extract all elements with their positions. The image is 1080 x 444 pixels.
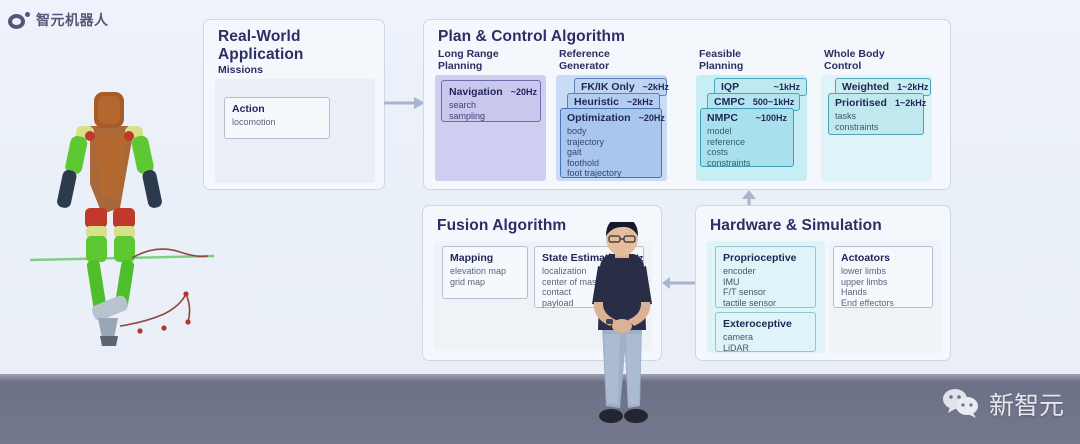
architecture-diagram: Real-World Application Missions Action l… [0,0,1080,374]
panel-hardware-simulation: Hardware & Simulation Proprioceptive enc… [695,205,951,361]
panel-plan-control-algorithm: Plan & Control Algorithm Long Range Plan… [423,19,951,190]
wechat-icon [941,388,981,420]
card-navigation-body: search sampling [449,100,533,121]
card-cmpc-title: CMPC [714,96,745,108]
card-weighted-title: Weighted [842,81,889,93]
hardware-title: Hardware & Simulation [710,217,882,235]
card-iqp-hz: ~1kHz [774,82,800,92]
fusion-title: Fusion Algorithm [437,217,566,235]
card-fk-ik-only-title: FK/IK Only [581,81,635,93]
card-mapping-title: Mapping [450,252,493,264]
card-optimization[interactable]: Optimization ~20Hz body trajectory gait … [560,108,662,178]
plan-control-title: Plan & Control Algorithm [438,28,625,46]
card-optimization-title: Optimization [567,112,631,124]
card-exteroceptive[interactable]: Exteroceptive camera LiDAR [715,312,816,352]
card-actoators-body: lower limbs upper limbs Hands End effect… [841,266,925,308]
card-nmpc-hz: ~100Hz [756,113,787,123]
watermark-text: 新智元 [989,386,1064,422]
card-action-title: Action [232,103,265,115]
card-nmpc-body: model reference costs constraints [707,126,787,168]
card-mapping[interactable]: Mapping elevation map grid map [442,246,528,299]
channel-watermark: 新智元 [941,386,1064,422]
real-world-title: Real-World Application [218,28,384,64]
floor-edge-highlight [0,374,1080,382]
card-action[interactable]: Action locomotion [224,97,330,139]
card-prioritised-hz: 1~2kHz [895,98,926,108]
card-proprioceptive[interactable]: Proprioceptive encoder IMU F/T sensor ta… [715,246,816,308]
card-nmpc-title: NMPC [707,112,738,124]
card-navigation[interactable]: Navigation ~20Hz search sampling [441,80,541,122]
presenter-person [576,222,668,444]
stage-floor [0,374,1080,444]
arrow-realworld-to-plan [384,95,426,111]
card-optimization-body: body trajectory gait foothold foot traje… [567,126,655,179]
card-fk-ik-only-hz: ~2kHz [643,82,669,92]
column-label-feasible-planning: Feasible Planning [699,48,743,72]
card-prioritised-body: tasks constraints [835,111,917,132]
card-proprioceptive-body: encoder IMU F/T sensor tactile sensor [723,266,808,308]
card-nmpc[interactable]: NMPC ~100Hz model reference costs constr… [700,108,794,167]
card-proprioceptive-title: Proprioceptive [723,252,797,264]
card-heuristic-hz: ~2kHz [627,97,653,107]
card-exteroceptive-title: Exteroceptive [723,318,792,330]
card-exteroceptive-body: camera LiDAR [723,332,808,353]
card-actoators[interactable]: Actoators lower limbs upper limbs Hands … [833,246,933,308]
column-label-reference-generator: Reference Generator [559,48,610,72]
card-heuristic-title: Heuristic [574,96,619,108]
real-world-subtitle: Missions [218,64,263,76]
card-weighted-hz: 1~2kHz [897,82,928,92]
column-label-whole-body-control: Whole Body Control [824,48,885,72]
card-prioritised[interactable]: Prioritised 1~2kHz tasks constraints [828,93,924,135]
card-optimization-hz: ~20Hz [639,113,665,123]
card-actoators-title: Actoators [841,252,890,264]
card-cmpc-hz: 500~1kHz [753,97,794,107]
card-mapping-body: elevation map grid map [450,266,520,287]
panel-real-world-application: Real-World Application Missions Action l… [203,19,385,190]
card-iqp-title: IQP [721,81,739,93]
card-action-body: locomotion [232,117,322,128]
card-navigation-hz: ~20Hz [511,87,537,97]
card-navigation-title: Navigation [449,86,503,98]
card-prioritised-title: Prioritised [835,97,887,109]
column-label-long-range-planning: Long Range Planning [438,48,499,72]
slide-screenshot: 智元机器人 [0,0,1080,444]
